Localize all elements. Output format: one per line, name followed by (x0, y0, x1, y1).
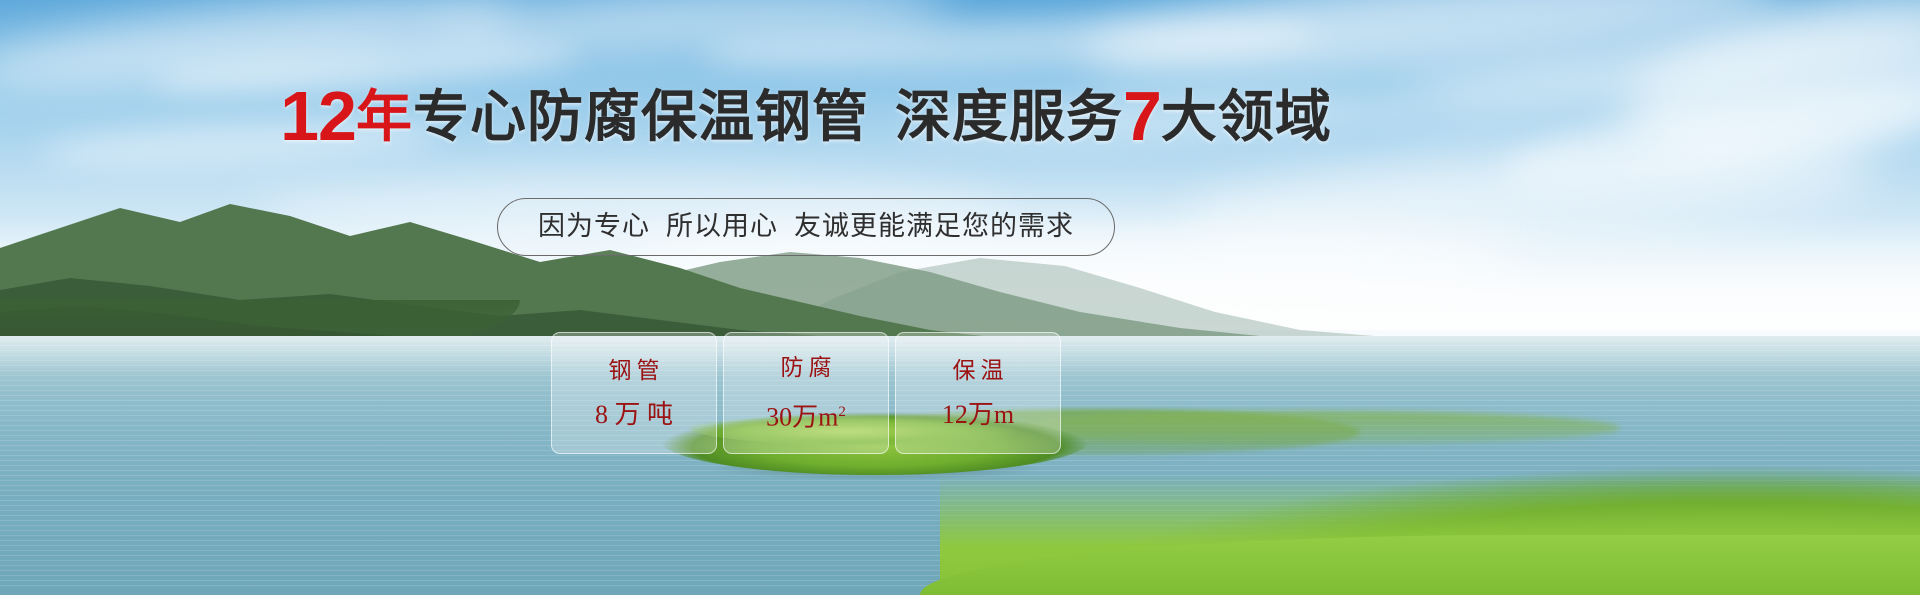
stat-card-list: 钢管 8 万 吨 防腐 30万m2 保温 12万m (0, 332, 1612, 454)
stat-card-value-main: 8 万 吨 (595, 400, 673, 429)
stat-card-value: 12万m (942, 399, 1014, 431)
headline-fields-number: 7 (1123, 77, 1161, 155)
stat-card-insulation: 保温 12万m (895, 332, 1061, 454)
headline-part-one: 专心防腐保温钢管 (413, 85, 869, 148)
stat-card-title: 钢管 (604, 355, 665, 385)
subheadline-segment-3: 友诚更能满足您的需求 (794, 211, 1074, 241)
stat-card-value-main: 12万m (942, 400, 1014, 429)
stat-card-value: 30万m2 (766, 396, 846, 434)
stat-card-steel-pipe: 钢管 8 万 吨 (551, 332, 717, 454)
banner-subheadline-pill: 因为专心所以用心友诚更能满足您的需求 (497, 198, 1115, 256)
headline-years-number: 12 (280, 77, 356, 155)
stat-card-anticorrosion: 防腐 30万m2 (723, 332, 889, 454)
banner-content: 12年专心防腐保温钢管深度服务7大领域 因为专心所以用心友诚更能满足您的需求 钢… (0, 0, 1920, 595)
stat-card-value: 8 万 吨 (595, 399, 673, 431)
headline-years-unit: 年 (356, 85, 413, 148)
stat-card-value-main: 30万m (766, 403, 838, 432)
stat-card-title: 保温 (948, 355, 1009, 385)
subheadline-segment-2: 所以用心 (666, 211, 778, 241)
headline-part-two: 深度服务 (895, 85, 1123, 148)
banner-headline: 12年专心防腐保温钢管深度服务7大领域 (0, 84, 1612, 149)
stat-card-value-superscript: 2 (838, 404, 846, 420)
banner-subheadline-wrap: 因为专心所以用心友诚更能满足您的需求 (0, 198, 1612, 256)
subheadline-segment-1: 因为专心 (538, 211, 650, 241)
stat-card-title: 防腐 (776, 352, 837, 382)
hero-banner: 12年专心防腐保温钢管深度服务7大领域 因为专心所以用心友诚更能满足您的需求 钢… (0, 0, 1920, 595)
headline-part-three: 大领域 (1161, 85, 1332, 148)
